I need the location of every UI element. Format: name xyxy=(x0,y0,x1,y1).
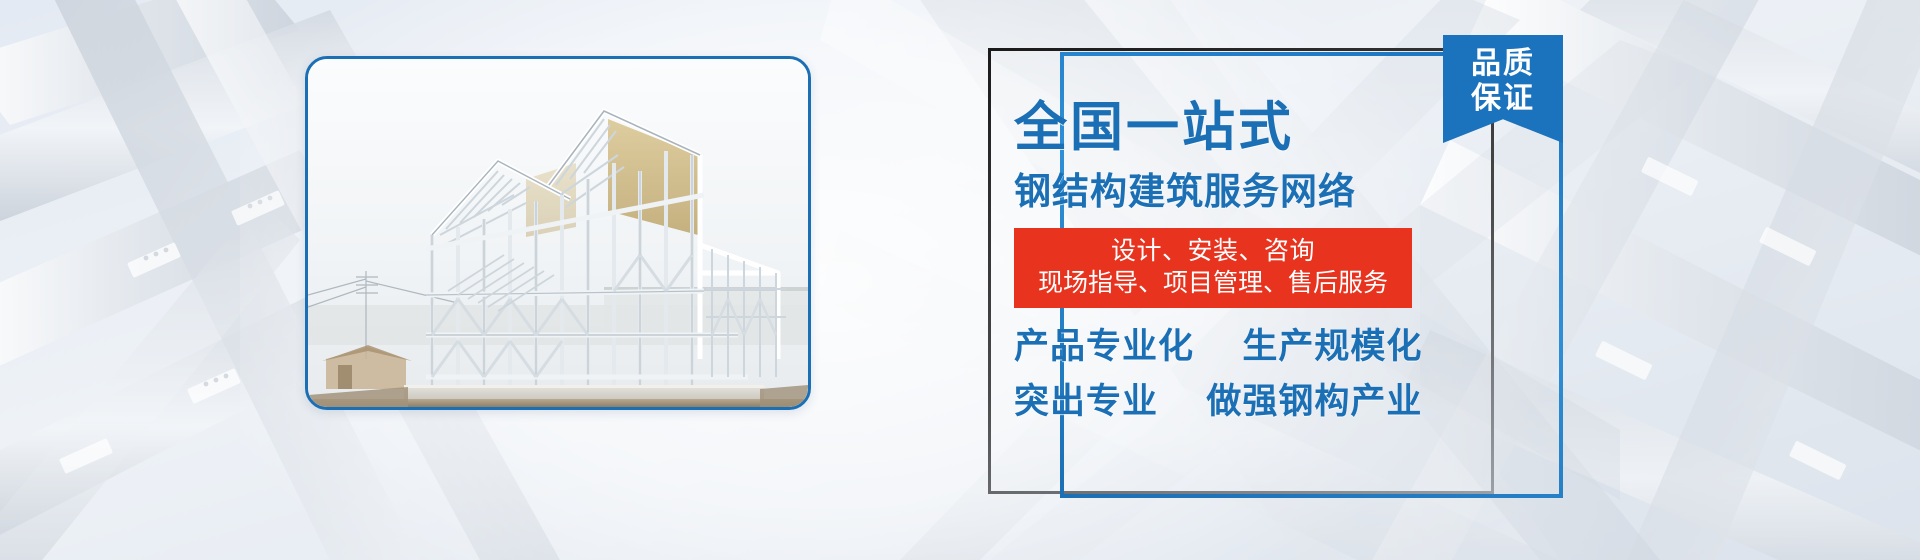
services-highlight-box: 设计、安装、咨询 现场指导、项目管理、售后服务 xyxy=(1014,228,1412,308)
project-photo-card[interactable] xyxy=(305,56,811,410)
slogan-row-1: 产品专业化 生产规模化 xyxy=(1014,328,1484,367)
project-photo xyxy=(308,59,808,407)
slogan-1-right: 生产规模化 xyxy=(1242,327,1422,367)
headline-secondary: 钢结构建筑服务网络 xyxy=(1014,172,1484,213)
promo-banner: 全国一站式 钢结构建筑服务网络 设计、安装、咨询 现场指导、项目管理、售后服务 … xyxy=(0,0,1920,560)
badge-line-2: 保证 xyxy=(1471,82,1535,117)
slogan-2-left: 突出专业 xyxy=(1014,382,1158,422)
steel-truss-pattern-icon xyxy=(0,0,1920,560)
steel-frame-house-photo-icon xyxy=(308,59,808,407)
badge-line-1: 品质 xyxy=(1471,47,1535,82)
background-steel-truss xyxy=(0,0,1920,560)
services-line-2: 现场指导、项目管理、售后服务 xyxy=(1020,267,1406,299)
slogan-row-2: 突出专业 做强钢构产业 xyxy=(1014,383,1484,422)
slogan-2-right: 做强钢构产业 xyxy=(1206,382,1422,422)
slogan-1-left: 产品专业化 xyxy=(1014,327,1194,367)
headline-primary: 全国一站式 xyxy=(1014,100,1484,156)
services-line-1: 设计、安装、咨询 xyxy=(1020,235,1406,267)
panel-content: 全国一站式 钢结构建筑服务网络 设计、安装、咨询 现场指导、项目管理、售后服务 … xyxy=(1014,70,1484,421)
